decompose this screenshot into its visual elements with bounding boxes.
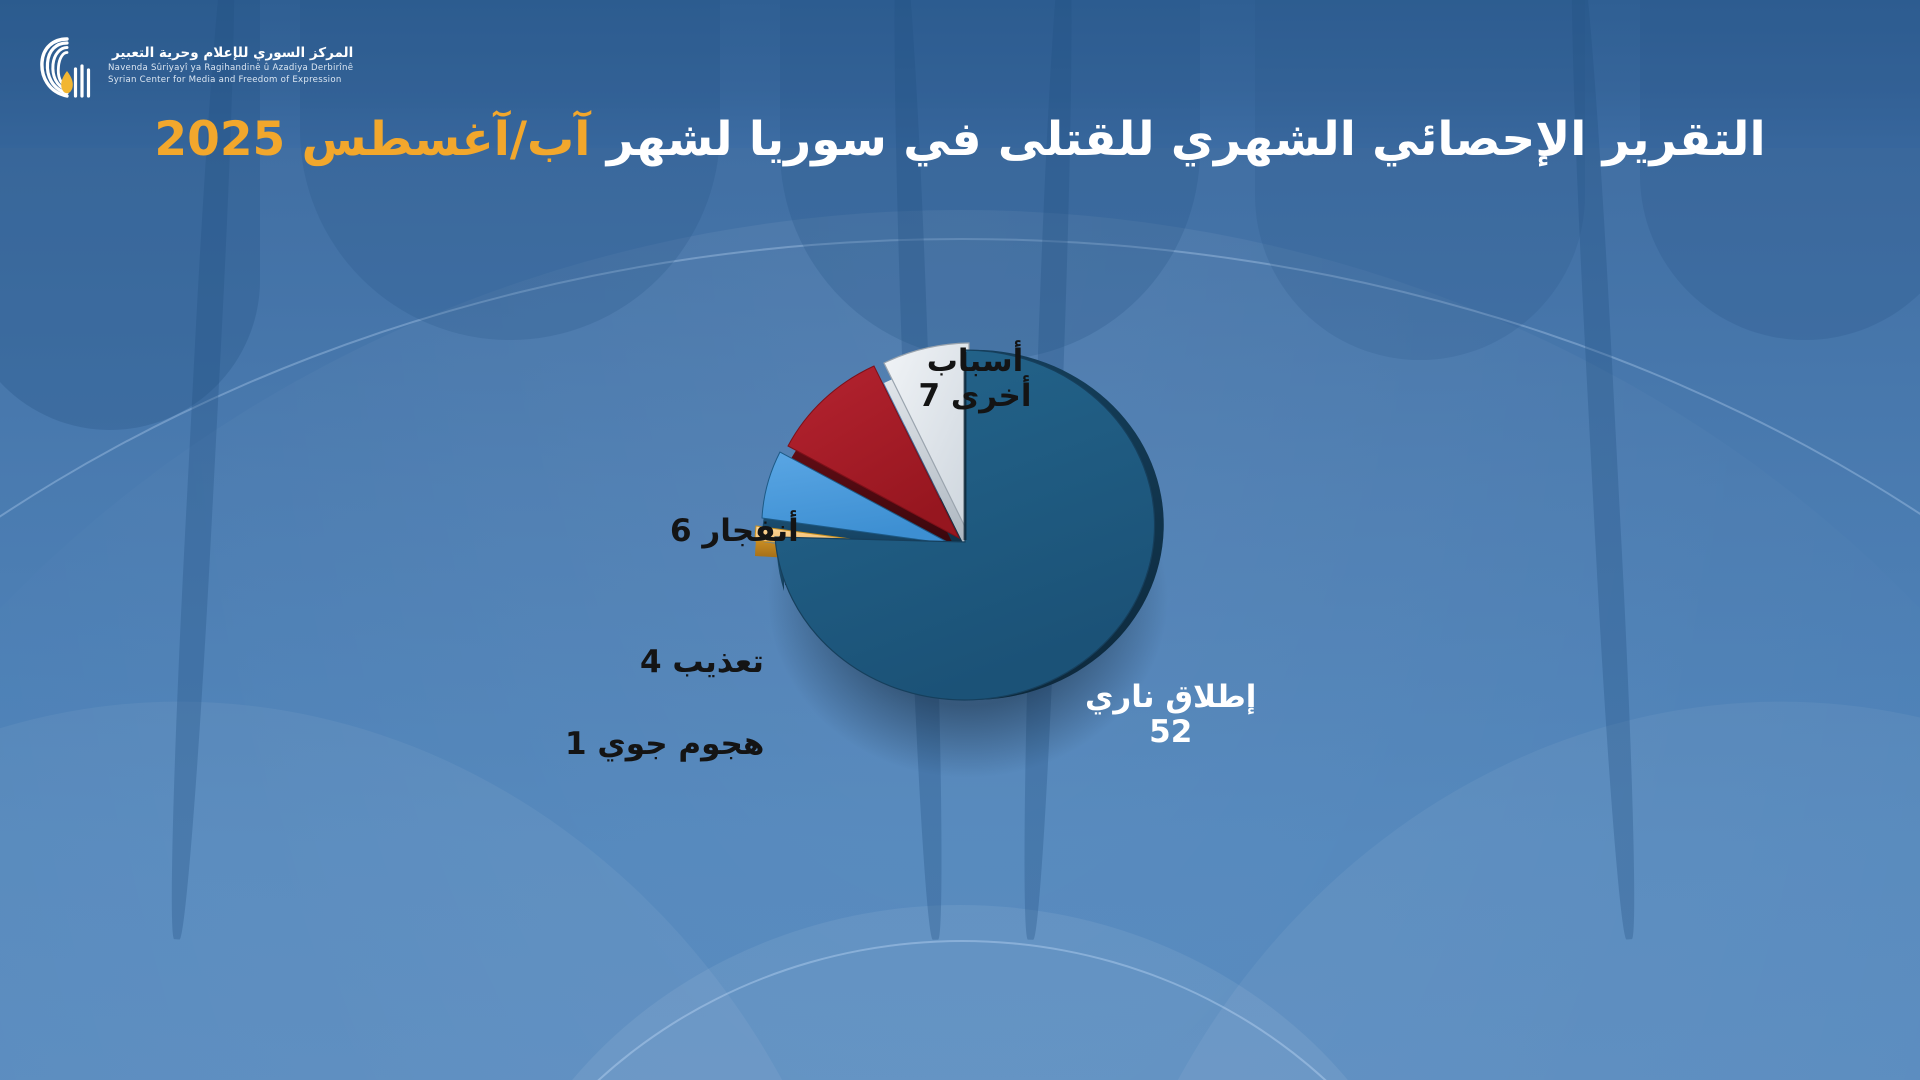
background-dome <box>470 905 1450 1080</box>
background-petal-2 <box>300 0 720 340</box>
slice-label-other-word2: أخرى <box>951 378 1032 414</box>
slice-label-other-line1: أسباب <box>905 344 1045 379</box>
slice-label-other-causes: أسباب أخرى 7 <box>905 344 1045 413</box>
background-petal-4 <box>1255 0 1585 360</box>
scm-fingerprint-flame-logo <box>38 36 96 96</box>
infographic-canvas: المركز السوري للإعلام وحرية التعبير Nave… <box>0 0 1920 1080</box>
slice-value-gunfire: 52 <box>1085 715 1256 750</box>
page-title: التقرير الإحصائي الشهري للقتلى في سوريا … <box>0 112 1920 168</box>
slice-label-gunfire-name: إطلاق ناري <box>1085 680 1256 715</box>
background-arc-small <box>440 940 1484 1080</box>
title-highlight-month: آب/آغسطس 2025 <box>154 112 590 167</box>
background-petal-3 <box>780 0 1200 360</box>
slice-label-other-line2: أخرى 7 <box>905 379 1045 414</box>
slice-value-other: 7 <box>918 378 940 414</box>
org-name-arabic: المركز السوري للإعلام وحرية التعبير <box>108 46 353 62</box>
background-petal-5 <box>1640 0 1920 340</box>
org-name-english: Syrian Center for Media and Freedom of E… <box>108 75 353 86</box>
slice-label-air-attack: هجوم جوي 1 <box>565 727 764 762</box>
organization-logo: المركز السوري للإعلام وحرية التعبير Nave… <box>38 36 353 96</box>
slice-label-torture: تعذيب 4 <box>640 645 764 680</box>
organization-name-block: المركز السوري للإعلام وحرية التعبير Nave… <box>108 46 353 86</box>
org-name-kurdish: Navenda Sûriyayî ya Ragihandinê û Azadiy… <box>108 63 353 74</box>
slice-label-explosion: أنفجار 6 <box>670 514 799 549</box>
title-main-text: التقرير الإحصائي الشهري للقتلى في سوريا … <box>590 112 1765 167</box>
slice-label-gunfire: إطلاق ناري 52 <box>1085 680 1256 749</box>
